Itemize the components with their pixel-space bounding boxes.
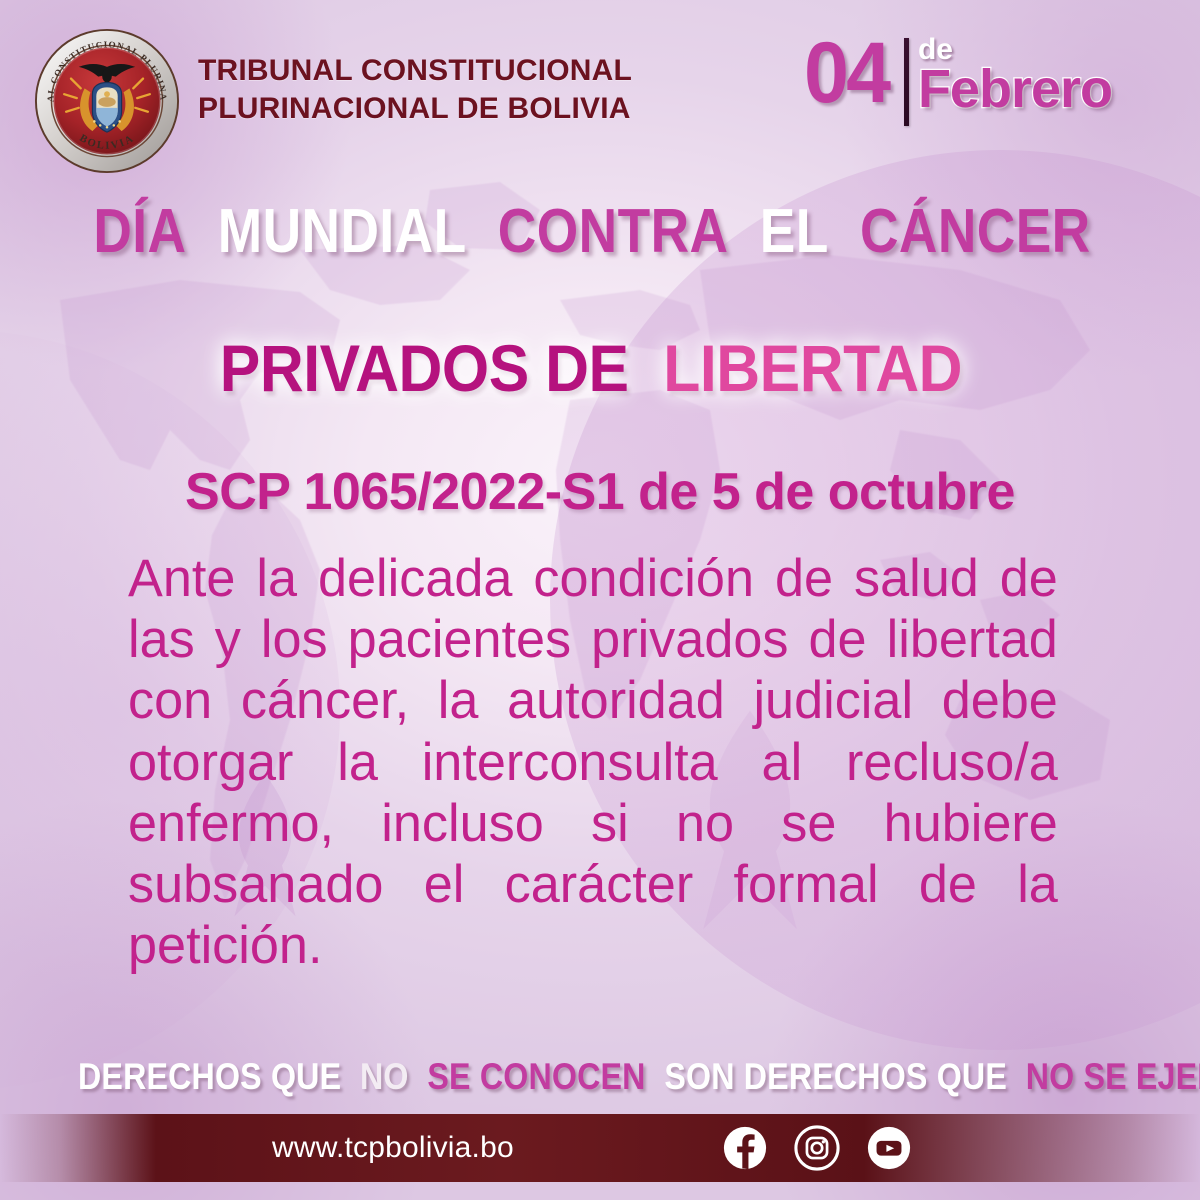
facebook-icon[interactable] (722, 1125, 768, 1171)
page-title: DÍA MUNDIAL CONTRA EL CÁNCER (84, 196, 1116, 267)
slogan: DERECHOS QUE NO SE CONOCEN SON DERECHOS … (78, 1056, 1122, 1098)
footer-bar: www.tcpbolivia.bo (0, 1114, 1200, 1182)
instagram-icon[interactable] (794, 1125, 840, 1171)
slogan-part4: SON DERECHOS QUE (664, 1056, 1007, 1097)
subheadline-part1: PRIVADOS DE (220, 331, 629, 405)
poster-canvas: TRIBUNAL CONSTITUCIONAL PLURINACIONAL BO… (0, 0, 1200, 1200)
headline-part2: MUNDIAL (218, 197, 467, 266)
ruling-reference: SCP 1065/2022-S1 de 5 de octubre (0, 462, 1200, 522)
slogan-part2: NO (360, 1056, 409, 1097)
headline-part5: CÁNCER (860, 197, 1091, 266)
ruling-body-text: Ante la delicada condición de salud de l… (128, 548, 1058, 1038)
headline-part3: CONTRA (498, 197, 729, 266)
slogan-part1: DERECHOS QUE (78, 1056, 341, 1097)
date-badge: 04 de Febrero (804, 34, 1112, 126)
subheadline-part2: LIBERTAD (663, 331, 962, 405)
page-subtitle: PRIVADOS DE LIBERTAD (48, 330, 1152, 406)
institution-name-line1: TRIBUNAL CONSTITUCIONAL (198, 52, 632, 90)
institution-name-line2: PLURINACIONAL DE BOLIVIA (198, 90, 632, 128)
poster-header: TRIBUNAL CONSTITUCIONAL PLURINACIONAL BO… (0, 0, 1200, 185)
slogan-part3: SE CONOCEN (427, 1056, 645, 1097)
youtube-icon[interactable] (866, 1125, 912, 1171)
institution-name: TRIBUNAL CONSTITUCIONAL PLURINACIONAL DE… (198, 52, 632, 129)
headline-part4: EL (760, 197, 829, 266)
headline-part1: DÍA (93, 197, 186, 266)
date-month: Febrero (918, 62, 1112, 116)
date-day: 04 (804, 34, 888, 113)
social-links (722, 1125, 912, 1171)
date-divider (904, 38, 909, 126)
poster-background: TRIBUNAL CONSTITUCIONAL PLURINACIONAL BO… (0, 0, 1200, 1200)
institution-seal-logo: TRIBUNAL CONSTITUCIONAL PLURINACIONAL BO… (34, 28, 180, 174)
website-url[interactable]: www.tcpbolivia.bo (272, 1131, 514, 1165)
slogan-part5: NO SE EJERCEN (1026, 1056, 1200, 1097)
